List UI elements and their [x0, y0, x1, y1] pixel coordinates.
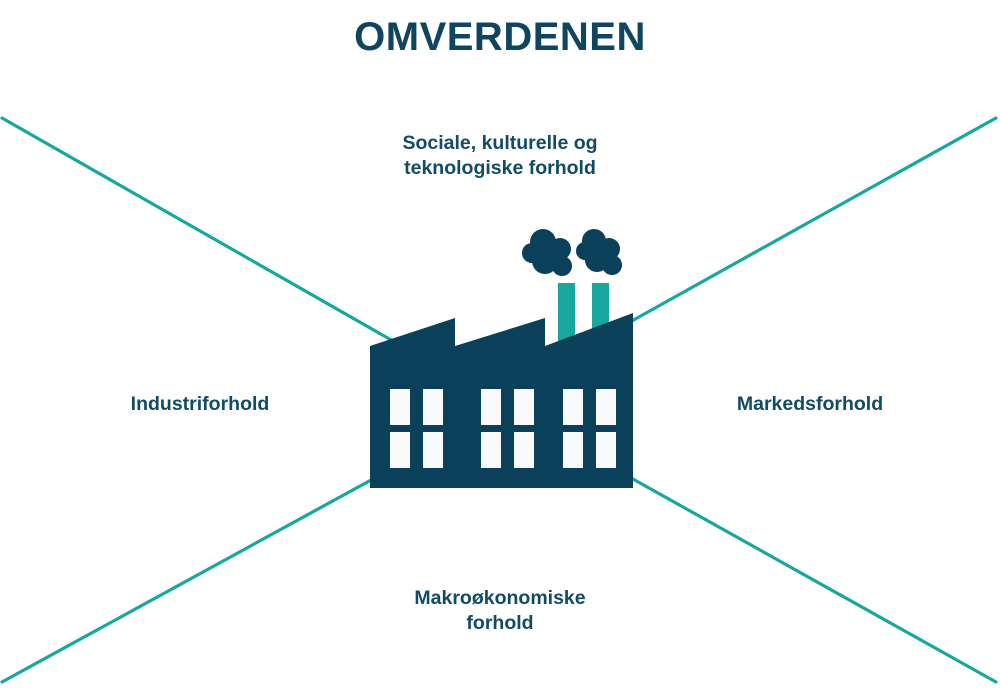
window [390, 389, 410, 425]
quadrant-label-top: Sociale, kulturelle og teknologiske forh… [280, 131, 720, 181]
window [514, 389, 534, 425]
window [481, 389, 501, 425]
window [596, 389, 616, 425]
page-title: OMVERDENEN [0, 12, 1000, 63]
diagonal-bottom-left-line [2, 474, 382, 682]
window [423, 432, 443, 468]
window [563, 432, 583, 468]
smoke-right [576, 229, 622, 275]
window [481, 432, 501, 468]
window [596, 432, 616, 468]
window [514, 432, 534, 468]
window [423, 389, 443, 425]
window [563, 389, 583, 425]
window [390, 432, 410, 468]
diagonal-bottom-right-line [624, 474, 996, 682]
smoke-left [522, 229, 572, 276]
quadrant-label-bottom: Makroøkonomiske forhold [280, 586, 720, 636]
factory-icon [370, 229, 633, 488]
diagram-canvas: OMVERDENEN Sociale, kulturelle og teknol… [0, 0, 1000, 694]
quadrant-label-right: Markedsforhold [650, 392, 970, 417]
quadrant-label-left: Industriforhold [40, 392, 360, 417]
